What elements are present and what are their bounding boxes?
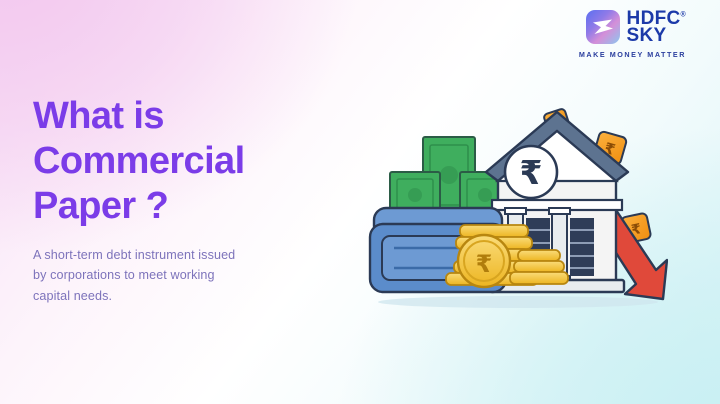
- registered-mark-icon: ®: [681, 12, 686, 19]
- page-subtitle: A short-term debt instrument issued by c…: [33, 245, 328, 306]
- logo-word-hdfc: HDFC®: [627, 10, 686, 27]
- hdfc-sky-swoosh-icon: [586, 10, 620, 44]
- logo-row: HDFC® SKY: [586, 10, 686, 45]
- svg-text:₹: ₹: [520, 153, 543, 192]
- brand-tagline: MAKE MONEY MATTER: [579, 50, 686, 59]
- commercial-paper-finance-illustration: ₹ ₹ ₹: [368, 100, 668, 315]
- ground-shadow: [378, 296, 658, 308]
- logo-wordmark: HDFC® SKY: [627, 10, 686, 45]
- brand-logo: HDFC® SKY MAKE MONEY MATTER: [579, 10, 686, 59]
- svg-text:₹: ₹: [476, 250, 493, 278]
- page-title: What is Commercial Paper ?: [33, 94, 245, 228]
- logo-word-sky: SKY: [627, 27, 686, 44]
- illustration-svg: ₹ ₹ ₹: [368, 100, 668, 315]
- rupee-badge: ₹: [505, 146, 557, 198]
- slide-canvas: HDFC® SKY MAKE MONEY MATTER What is Comm…: [0, 0, 720, 404]
- rupee-coin: ₹: [458, 235, 510, 287]
